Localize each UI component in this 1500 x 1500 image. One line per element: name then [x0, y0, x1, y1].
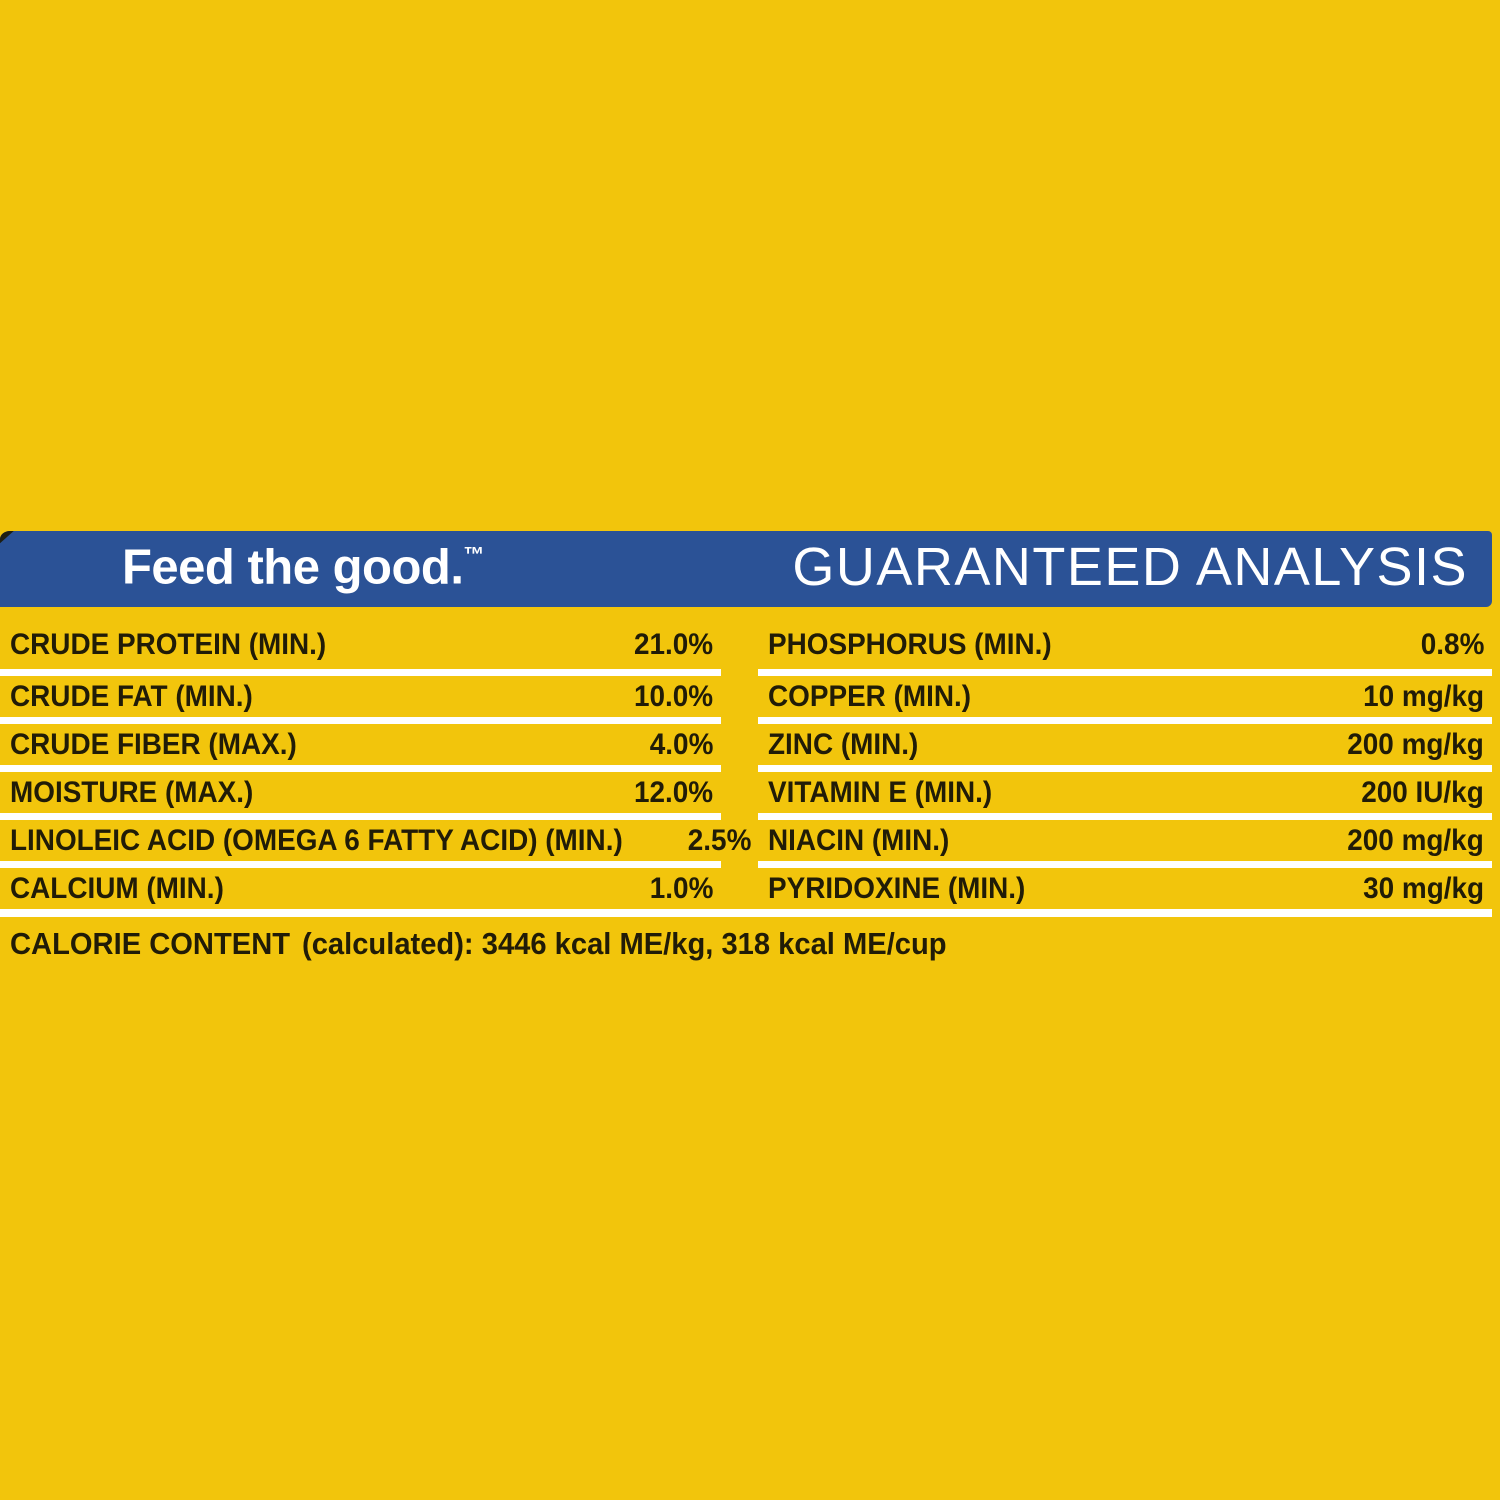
nutrient-value: 12.0%	[621, 778, 713, 808]
nutrient-value: 10.0%	[621, 682, 713, 712]
nutrient-value: 200 mg/kg	[1335, 730, 1484, 760]
table-row: CRUDE PROTEIN (MIN.)21.0%	[0, 621, 721, 669]
table-row: CRUDE FAT (MIN.)10.0%	[0, 669, 721, 717]
brand-tagline-text: Feed the good	[122, 541, 450, 595]
table-row: MOISTURE (MAX.)12.0%	[0, 765, 721, 813]
nutrient-label: VITAMIN E (MIN.)	[768, 778, 992, 808]
nutrient-label: ZINC (MIN.)	[768, 730, 918, 760]
nutrient-label: CRUDE PROTEIN (MIN.)	[10, 630, 326, 660]
trademark-icon: ™	[463, 544, 484, 567]
analysis-column-right: PHOSPHORUS (MIN.)0.8%COPPER (MIN.)10 mg/…	[758, 621, 1492, 909]
analysis-column-left: CRUDE PROTEIN (MIN.)21.0%CRUDE FAT (MIN.…	[0, 621, 721, 909]
calorie-content-detail: (calculated): 3446 kcal ME/kg, 318 kcal …	[302, 928, 947, 959]
page-title: GUARANTEED ANALYSIS	[792, 540, 1468, 594]
nutrient-value: 0.8%	[1407, 630, 1484, 660]
nutrient-value: 1.0%	[636, 874, 713, 904]
table-row: LINOLEIC ACID (OMEGA 6 FATTY ACID) (MIN.…	[0, 813, 721, 861]
nutrient-value: 10 mg/kg	[1350, 682, 1484, 712]
table-row: VITAMIN E (MIN.)200 IU/kg	[758, 765, 1492, 813]
table-bottom-divider	[0, 909, 1492, 917]
nutrient-value: 21.0%	[621, 630, 713, 660]
table-row: CALCIUM (MIN.)1.0%	[0, 861, 721, 909]
nutrient-label: MOISTURE (MAX.)	[10, 778, 253, 808]
table-row: PYRIDOXINE (MIN.)30 mg/kg	[758, 861, 1492, 909]
table-row: CRUDE FIBER (MAX.)4.0%	[0, 717, 721, 765]
nutrient-label: LINOLEIC ACID (OMEGA 6 FATTY ACID) (MIN.…	[10, 826, 623, 856]
nutrient-value: 4.0%	[636, 730, 713, 760]
calorie-content-line: CALORIE CONTENT (calculated): 3446 kcal …	[10, 922, 1410, 964]
brand-tagline-period: .	[450, 541, 463, 595]
page-title-text: GUARANTEED ANALYSIS	[792, 540, 1468, 594]
nutrient-label: NIACIN (MIN.)	[768, 826, 949, 856]
nutrient-value: 2.5%	[675, 826, 752, 856]
nutrient-value: 30 mg/kg	[1350, 874, 1484, 904]
guaranteed-analysis-table: CRUDE PROTEIN (MIN.)21.0%CRUDE FAT (MIN.…	[0, 621, 1492, 909]
table-row: ZINC (MIN.)200 mg/kg	[758, 717, 1492, 765]
brand-tagline: Feed the good.™	[122, 544, 484, 593]
nutrient-value: 200 IU/kg	[1348, 778, 1484, 808]
table-row: COPPER (MIN.)10 mg/kg	[758, 669, 1492, 717]
table-row: NIACIN (MIN.)200 mg/kg	[758, 813, 1492, 861]
nutrient-value: 200 mg/kg	[1335, 826, 1484, 856]
nutrient-label: PYRIDOXINE (MIN.)	[768, 874, 1025, 904]
guaranteed-analysis-header-bar: Feed the good.™ GUARANTEED ANALYSIS	[0, 531, 1492, 607]
nutrient-label: CALCIUM (MIN.)	[10, 874, 224, 904]
calorie-content-heading: CALORIE CONTENT	[10, 928, 290, 959]
nutrient-label: CRUDE FAT (MIN.)	[10, 682, 253, 712]
header-inner: Feed the good.™ GUARANTEED ANALYSIS	[0, 531, 1492, 607]
nutrient-label: PHOSPHORUS (MIN.)	[768, 630, 1052, 660]
nutrient-label: CRUDE FIBER (MAX.)	[10, 730, 297, 760]
table-row: PHOSPHORUS (MIN.)0.8%	[758, 621, 1492, 669]
nutrient-label: COPPER (MIN.)	[768, 682, 971, 712]
